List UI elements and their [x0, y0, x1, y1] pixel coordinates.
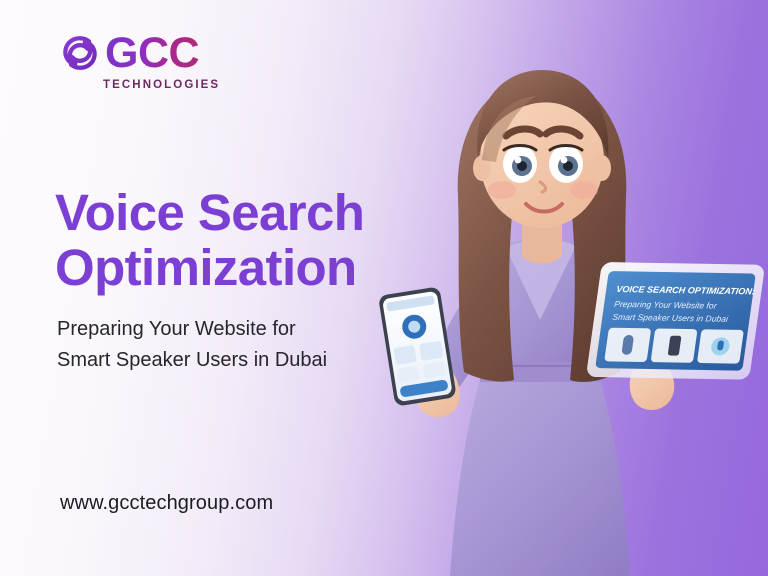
tablet-device: VOICE SEARCH OPTIMIZATION: Preparing You… [586, 262, 765, 380]
website-url: www.gcctechgroup.com [60, 492, 273, 515]
tablet-line-2: Smart Speaker Users in Dubai [612, 312, 730, 324]
brand-name: GCC [105, 32, 199, 75]
tablet-line-1: Preparing Your Website for [614, 299, 719, 311]
brand-logo: GCC TECHNOLOGIES [57, 30, 220, 91]
headline-line-1: Voice Search [55, 184, 364, 241]
smartphone [378, 286, 457, 406]
promo-banner: GCC TECHNOLOGIES Voice Search Optimizati… [0, 0, 768, 576]
subheadline: Preparing Your Website for Smart Speaker… [57, 314, 347, 376]
spiral-swirl-mark-icon [57, 30, 103, 76]
character-illustration: VOICE SEARCH OPTIMIZATION: Preparing You… [330, 0, 768, 576]
logo-row: GCC [57, 30, 199, 76]
brand-tagline: TECHNOLOGIES [103, 79, 220, 91]
